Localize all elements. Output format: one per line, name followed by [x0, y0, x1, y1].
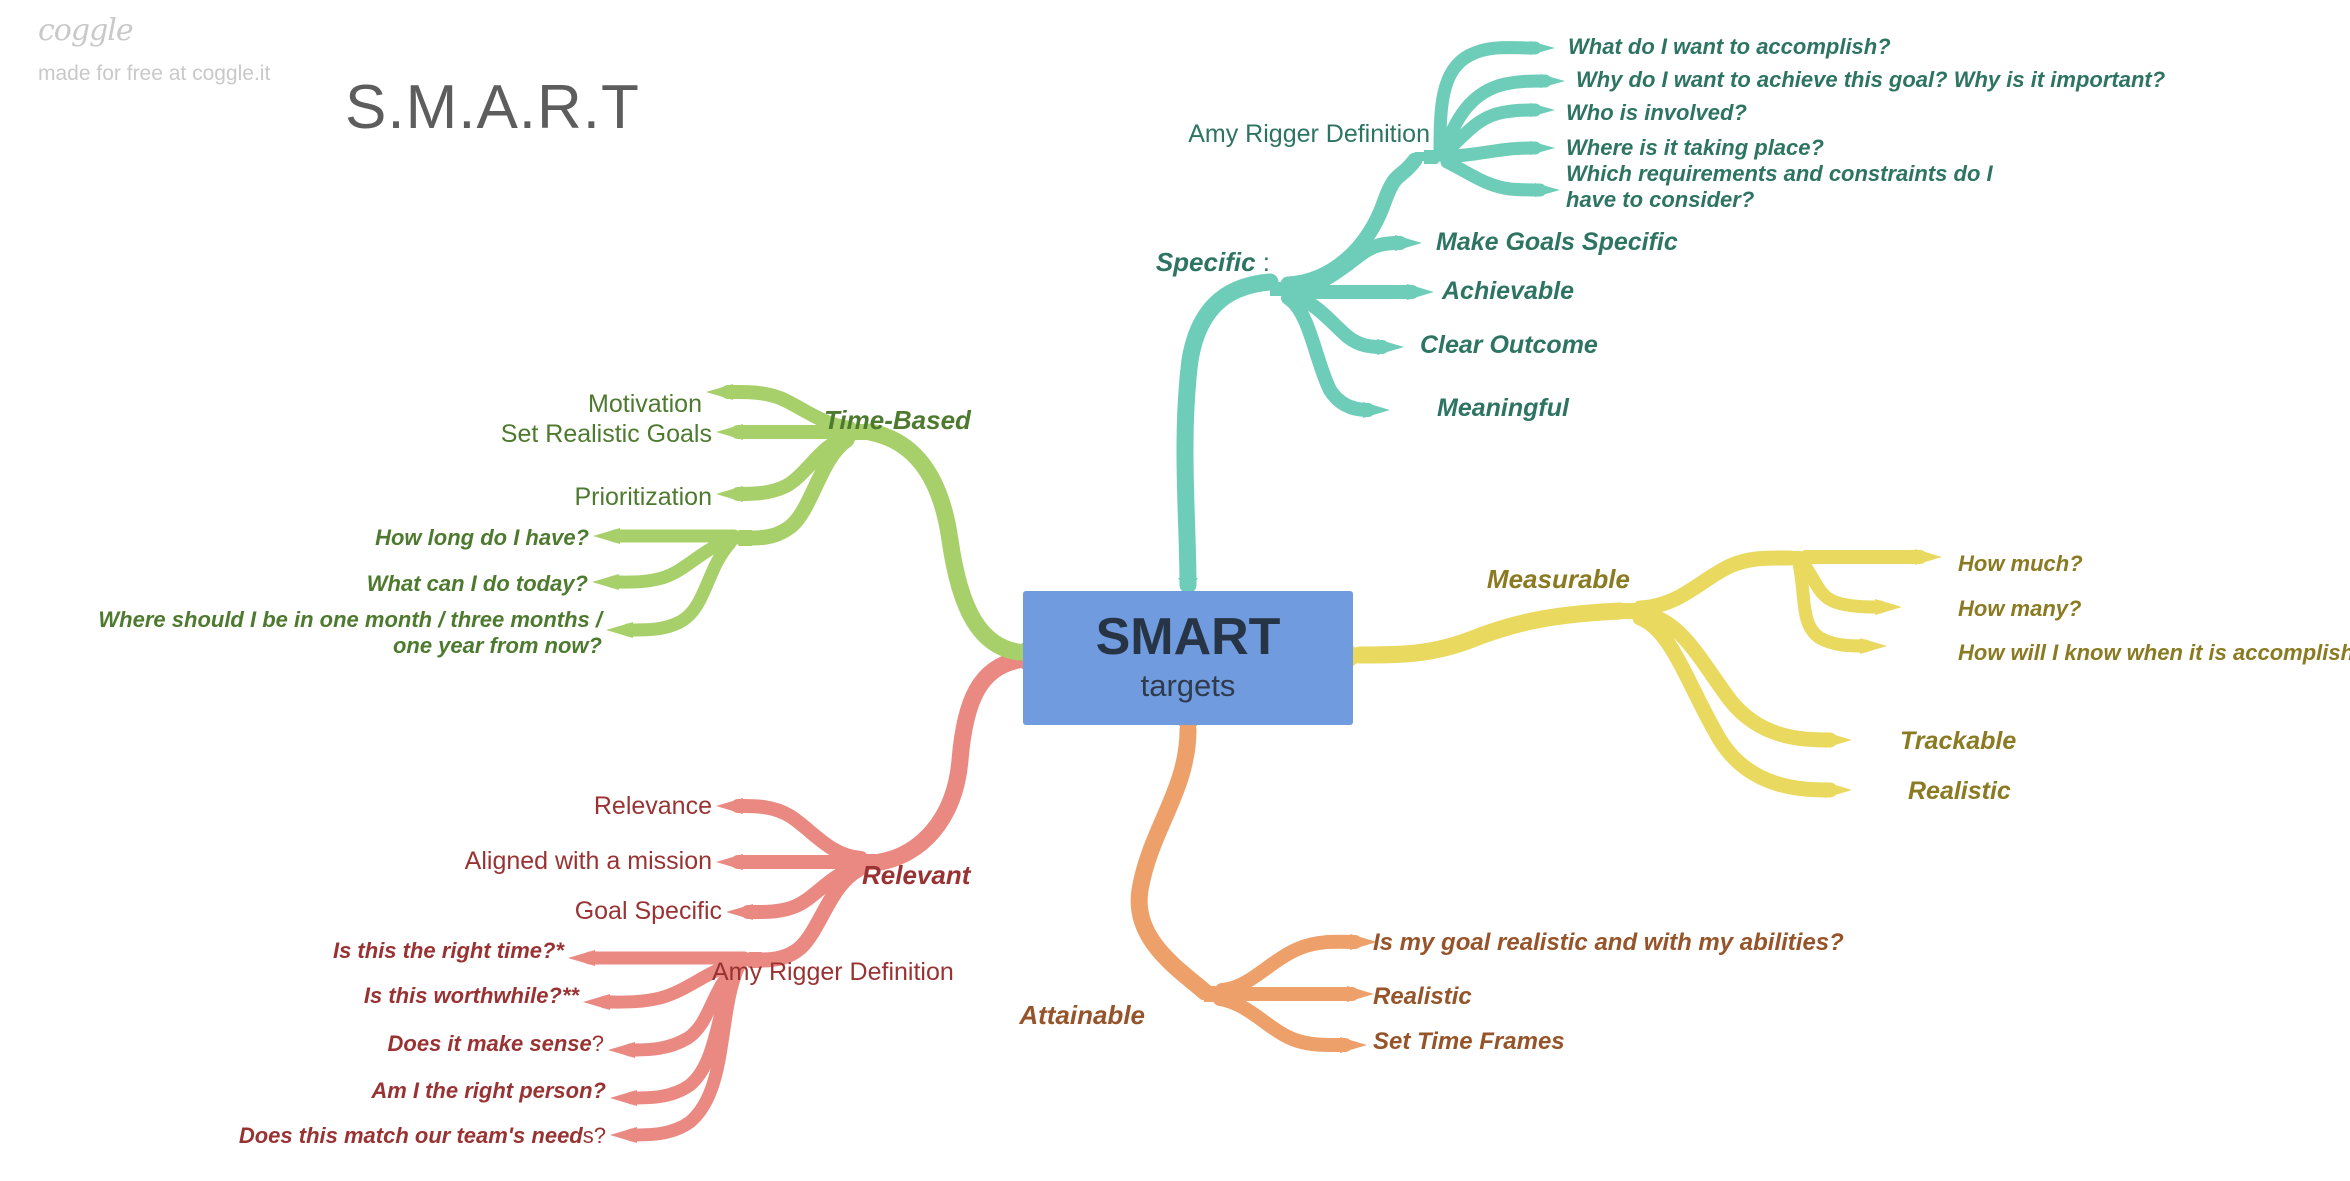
mindmap-canvas[interactable]: coggle made for free at coggle.it S.M.A.… — [0, 0, 2350, 1181]
node-specific-amy-rigger[interactable]: Amy Rigger Definition — [1030, 120, 1430, 150]
node-clear-outcome[interactable]: Clear Outcome — [1420, 331, 1598, 361]
node-make-goals-specific[interactable]: Make Goals Specific — [1436, 228, 1678, 258]
node-who-is-involved[interactable]: Who is involved? — [1566, 100, 1747, 126]
page-title: S.M.A.R.T — [345, 72, 640, 143]
central-node-title: SMART — [1096, 611, 1281, 663]
node-what-do-i-want-to-accomplish[interactable]: What do I want to accomplish? — [1568, 34, 1891, 60]
node-aligned-with-a-mission[interactable]: Aligned with a mission — [400, 847, 712, 877]
node-set-time-frames[interactable]: Set Time Frames — [1373, 1028, 1565, 1056]
node-is-my-goal-realistic[interactable]: Is my goal realistic and with my abiliti… — [1373, 929, 1844, 957]
node-where-should-i-be[interactable]: Where should I be in one month / three m… — [60, 607, 602, 659]
node-does-it-make-sense-bold: Does it make sense — [388, 1031, 592, 1056]
node-goal-specific[interactable]: Goal Specific — [400, 897, 722, 927]
node-where-is-it-taking-place[interactable]: Where is it taking place? — [1566, 135, 1824, 161]
node-how-will-i-know[interactable]: How will I know when it is accomplished? — [1958, 640, 2350, 666]
coggle-logo[interactable]: coggle — [38, 13, 133, 48]
node-specific[interactable]: Specific : — [880, 247, 1270, 278]
node-prioritization[interactable]: Prioritization — [390, 483, 712, 513]
node-achievable[interactable]: Achievable — [1442, 277, 1574, 307]
node-motivation[interactable]: Motivation — [400, 390, 702, 420]
node-attainable[interactable]: Attainable — [760, 1000, 1145, 1031]
node-does-it-make-sense[interactable]: Does it make sense? — [250, 1031, 604, 1057]
node-which-requirements-and-constraints[interactable]: Which requirements and constraints do I … — [1566, 161, 2006, 213]
node-does-this-match-bold: Does this match our team's need — [239, 1123, 583, 1148]
node-is-this-worthwhile[interactable]: Is this worthwhile?** — [250, 983, 579, 1009]
node-specific-label: Specific — [1156, 247, 1256, 277]
node-does-it-make-sense-tail: ? — [592, 1031, 604, 1056]
attainable-branch-wires — [1139, 724, 1377, 1053]
central-node[interactable]: SMART targets — [1023, 591, 1353, 725]
node-set-realistic-goals[interactable]: Set Realistic Goals — [390, 420, 712, 450]
node-how-much[interactable]: How much? — [1958, 551, 2083, 577]
node-attainable-realistic[interactable]: Realistic — [1373, 983, 1472, 1011]
node-why-do-i-want-to-achieve[interactable]: Why do I want to achieve this goal? Why … — [1576, 67, 2165, 93]
node-relevant-amy-rigger[interactable]: Amy Rigger Definition — [712, 958, 954, 988]
node-time-based[interactable]: Time-Based — [824, 405, 971, 436]
node-am-i-the-right-person[interactable]: Am I the right person? — [250, 1078, 606, 1104]
node-specific-suffix: : — [1256, 247, 1270, 277]
node-does-this-match-our-teams-needs[interactable]: Does this match our team's needs? — [160, 1123, 606, 1149]
node-relevance[interactable]: Relevance — [400, 792, 712, 822]
node-is-this-the-right-time[interactable]: Is this the right time?* — [250, 938, 564, 964]
node-relevant[interactable]: Relevant — [862, 860, 970, 891]
node-how-many[interactable]: How many? — [1958, 596, 2081, 622]
node-meaningful[interactable]: Meaningful — [1437, 394, 1569, 424]
node-how-long-do-i-have[interactable]: How long do I have? — [250, 525, 589, 551]
central-node-subtitle: targets — [1141, 667, 1236, 706]
node-does-this-match-tail: s? — [583, 1123, 606, 1148]
coggle-tagline[interactable]: made for free at coggle.it — [38, 62, 270, 86]
node-what-can-i-do-today[interactable]: What can I do today? — [250, 571, 588, 597]
node-measurable[interactable]: Measurable — [1200, 564, 1630, 595]
node-trackable[interactable]: Trackable — [1900, 727, 2016, 757]
node-measurable-realistic[interactable]: Realistic — [1908, 777, 2011, 807]
